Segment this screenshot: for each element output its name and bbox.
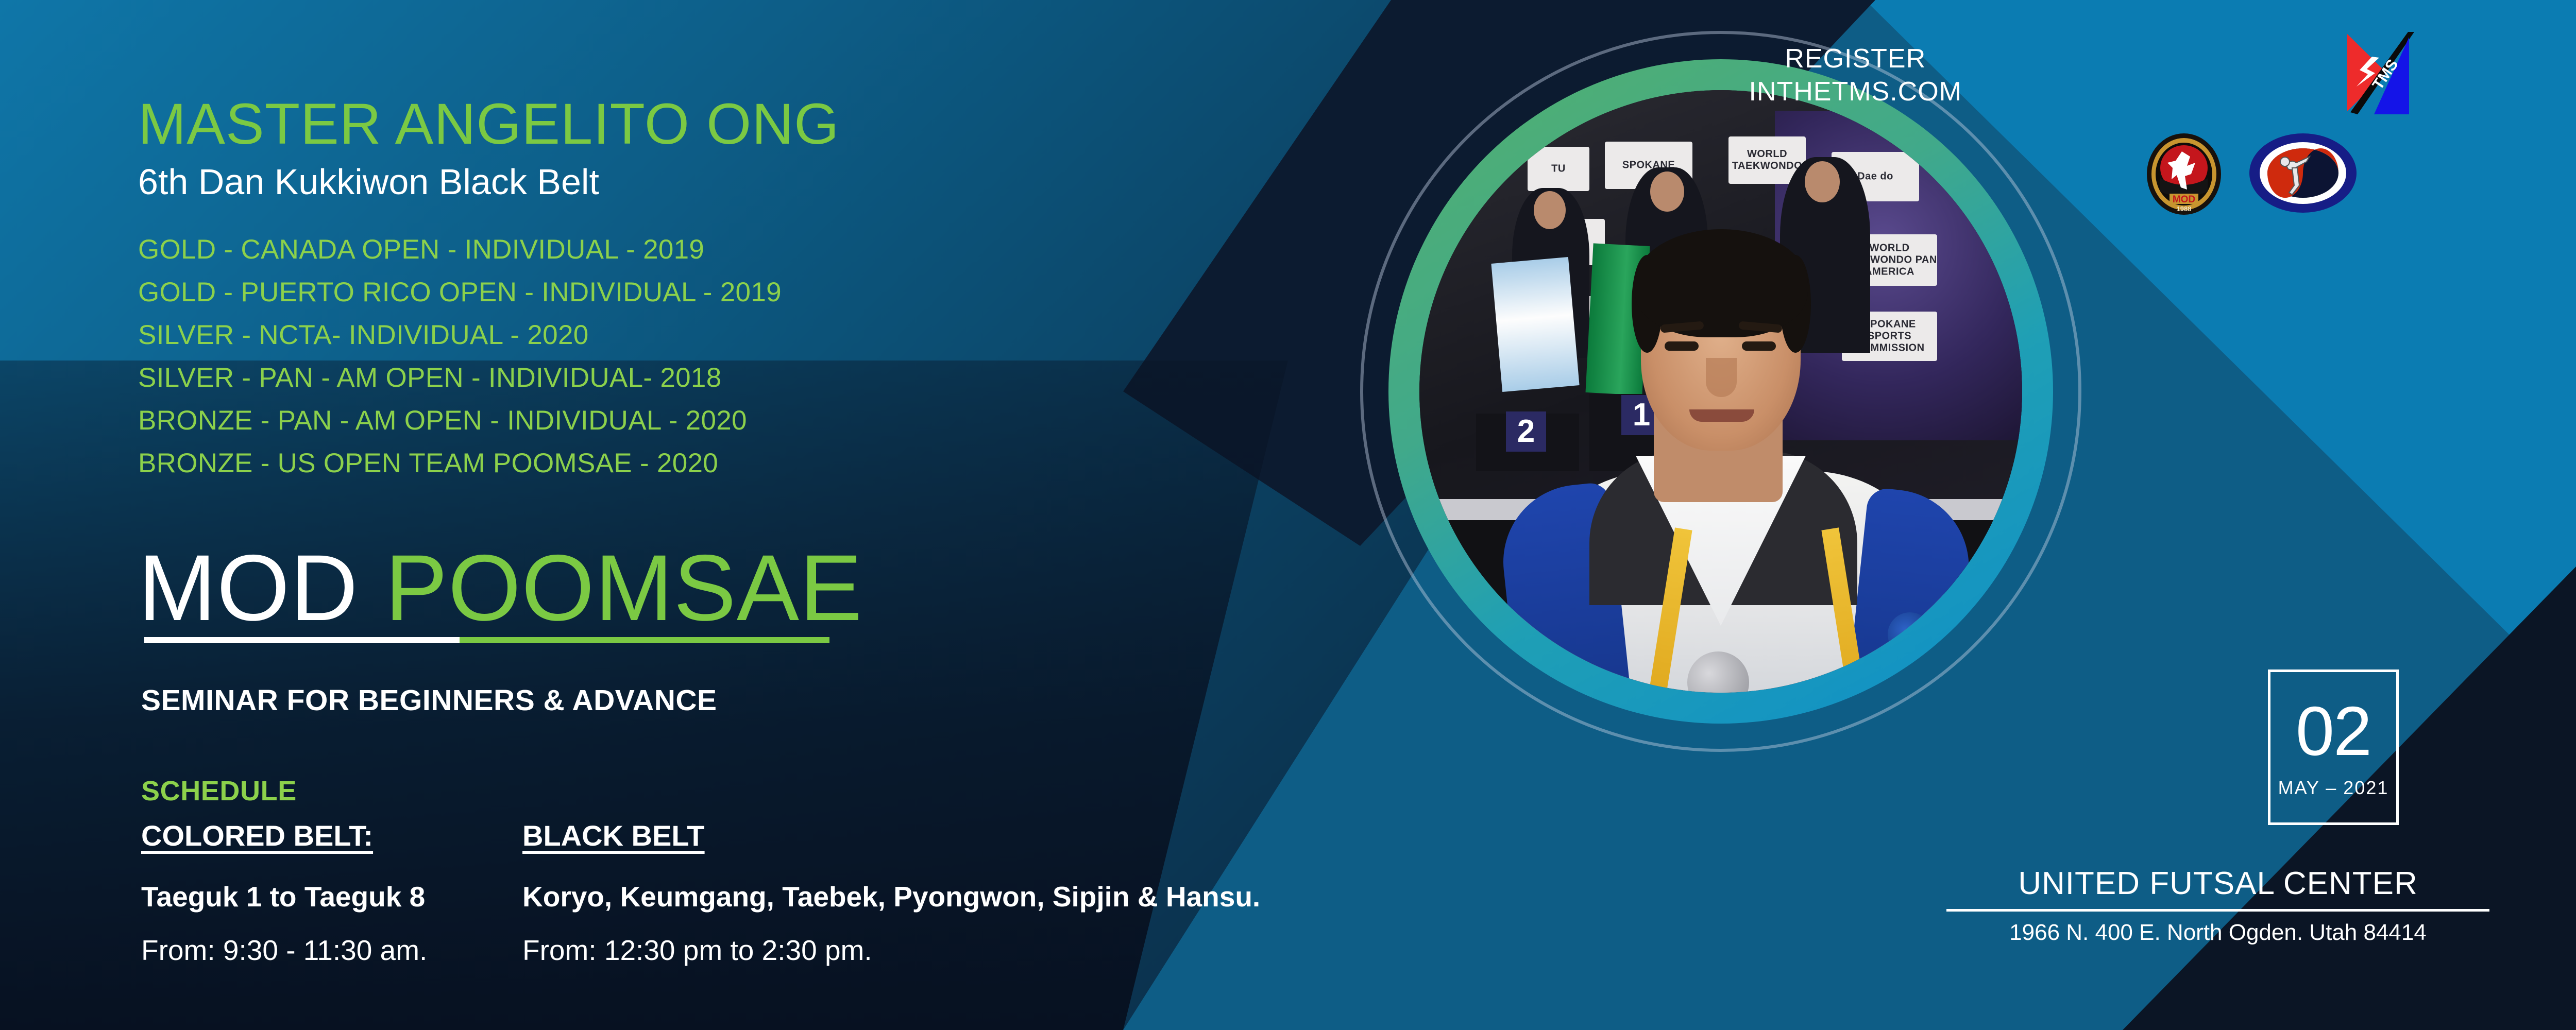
black-belt-heading: BLACK BELT	[522, 819, 1172, 852]
jacket-badge	[1888, 612, 1932, 657]
subject-eye-left	[1665, 341, 1699, 351]
photo-banner-placard: TU	[1528, 147, 1589, 191]
subject-nose	[1706, 358, 1737, 397]
mod-logo-name: MOD	[2173, 194, 2195, 205]
black-belt-forms: Koryo, Keumgang, Taebek, Pyongwon, Sipji…	[522, 880, 1172, 913]
event-title: MOD POOMSAE	[138, 541, 863, 634]
event-title-poomsae: POOMSAE	[385, 535, 862, 640]
association-logos: MOD 1988	[2146, 133, 2414, 215]
dagpins-martial-arts-mod-logo-icon: MOD 1988	[2146, 133, 2222, 215]
colored-belt-heading: COLORED BELT:	[141, 819, 522, 852]
underline-green-segment	[460, 637, 829, 643]
left-content-column: MASTER ANGELITO ONG 6th Dan Kukkiwon Bla…	[138, 0, 1194, 1030]
event-date-box: 02 MAY – 2021	[2268, 669, 2399, 825]
event-title-underline	[144, 637, 829, 643]
photo-background-athlete-head	[1534, 191, 1566, 229]
colored-belt-time: From: 9:30 - 11:30 am.	[141, 934, 522, 967]
schedule-column-colored-belt: COLORED BELT: Taeguk 1 to Taeguk 8 From:…	[141, 819, 522, 967]
seminar-poster: TU SPOKANE Dae do WORLD TAEKWONDO Dae do…	[0, 0, 2576, 1030]
underline-white-segment	[144, 637, 460, 643]
master-name: MASTER ANGELITO ONG	[138, 95, 839, 153]
award-item: SILVER - NCTA- INDIVIDUAL - 2020	[138, 314, 782, 356]
venue-block: UNITED FUTSAL CENTER 1966 N. 400 E. Nort…	[1886, 865, 2550, 946]
photo-flag-argentina	[1491, 257, 1579, 392]
world-taekwondo-logo-icon	[2249, 133, 2357, 213]
register-url[interactable]: INTHETMS.COM	[1749, 75, 1962, 108]
award-item: BRONZE - PAN - AM OPEN - INDIVIDUAL - 20…	[138, 399, 782, 442]
awards-list: GOLD - CANADA OPEN - INDIVIDUAL - 2019 G…	[138, 228, 782, 485]
photo-background-athlete-head	[1805, 161, 1840, 202]
award-item: BRONZE - US OPEN TEAM POOMSAE - 2020	[138, 442, 782, 485]
master-rank-subtitle: 6th Dan Kukkiwon Black Belt	[138, 164, 599, 200]
black-belt-time: From: 12:30 pm to 2:30 pm.	[522, 934, 1172, 967]
photo-background-athlete-head	[1650, 171, 1684, 212]
mod-logo-year: 1988	[2177, 205, 2192, 213]
register-block[interactable]: REGISTER INTHETMS.COM	[1749, 42, 1962, 108]
subject-hair	[1635, 229, 1808, 337]
venue-divider	[1946, 909, 2489, 912]
schedule-label: SCHEDULE	[141, 775, 297, 807]
portrait-circle: TU SPOKANE Dae do WORLD TAEKWONDO Dae do…	[1360, 31, 2081, 752]
event-tagline: SEMINAR FOR BEGINNERS & ADVANCE	[141, 683, 717, 717]
venue-name: UNITED FUTSAL CENTER	[1886, 865, 2550, 902]
subject-eye-right	[1742, 341, 1776, 351]
venue-address: 1966 N. 400 E. North Ogden. Utah 84414	[1886, 920, 2550, 946]
award-item: SILVER - PAN - AM OPEN - INDIVIDUAL- 201…	[138, 356, 782, 399]
schedule-column-black-belt: BLACK BELT Koryo, Keumgang, Taebek, Pyon…	[522, 819, 1172, 967]
event-date-month: MAY – 2021	[2278, 777, 2389, 799]
award-item: GOLD - PUERTO RICO OPEN - INDIVIDUAL - 2…	[138, 271, 782, 314]
register-label: REGISTER	[1749, 42, 1962, 75]
subject-mouth	[1689, 409, 1754, 422]
event-date-day: 02	[2296, 696, 2371, 766]
award-item: GOLD - CANADA OPEN - INDIVIDUAL - 2019	[138, 228, 782, 271]
master-photo: TU SPOKANE Dae do WORLD TAEKWONDO Dae do…	[1419, 90, 2022, 693]
colored-belt-forms: Taeguk 1 to Taeguk 8	[141, 880, 522, 913]
podium-number-2: 2	[1506, 411, 1546, 452]
event-title-mod: MOD	[138, 535, 385, 640]
tms-logo-icon: TMS	[2342, 30, 2414, 115]
